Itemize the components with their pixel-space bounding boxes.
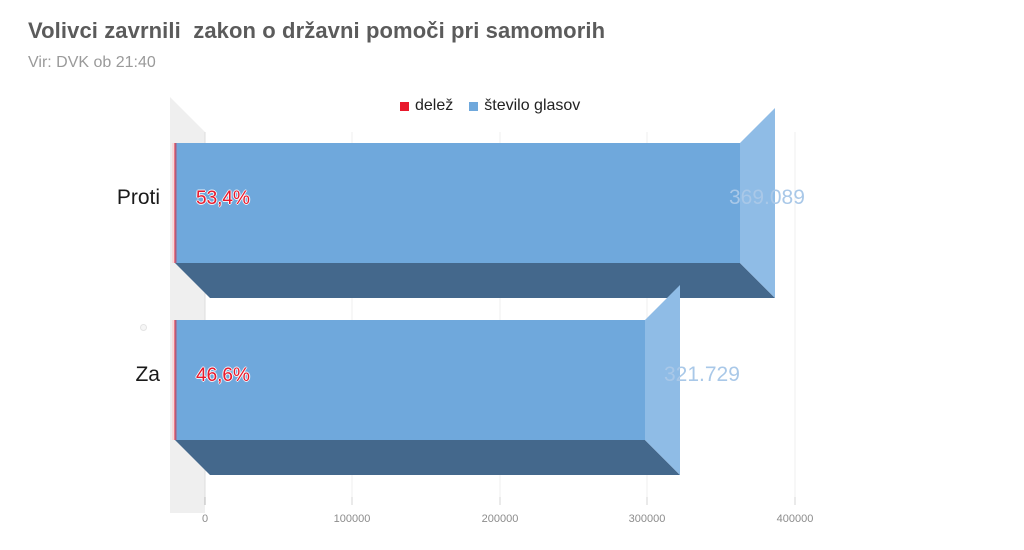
chart-container: Volivci zavrnili zakon o državni pomoči … — [0, 0, 1024, 550]
artifact-dot — [140, 324, 147, 331]
plot-area — [0, 0, 1024, 550]
bar-proti[interactable] — [172, 108, 775, 298]
data-label-glasovi-proti: 369.089 — [729, 186, 805, 210]
xtick-label-0: 0 — [202, 513, 208, 525]
x-axis — [205, 497, 795, 505]
data-label-glasovi-za: 321.729 — [664, 363, 740, 387]
xtick-label-3: 300000 — [629, 513, 666, 525]
data-label-delez-za: 46,6% — [196, 365, 250, 387]
xtick-label-1: 100000 — [334, 513, 371, 525]
xtick-label-2: 200000 — [482, 513, 519, 525]
category-label-proti: Proti — [40, 186, 160, 210]
xtick-label-4: 400000 — [777, 513, 814, 525]
data-label-delez-proti: 53,4% — [196, 188, 250, 210]
category-label-za: Za — [40, 363, 160, 387]
